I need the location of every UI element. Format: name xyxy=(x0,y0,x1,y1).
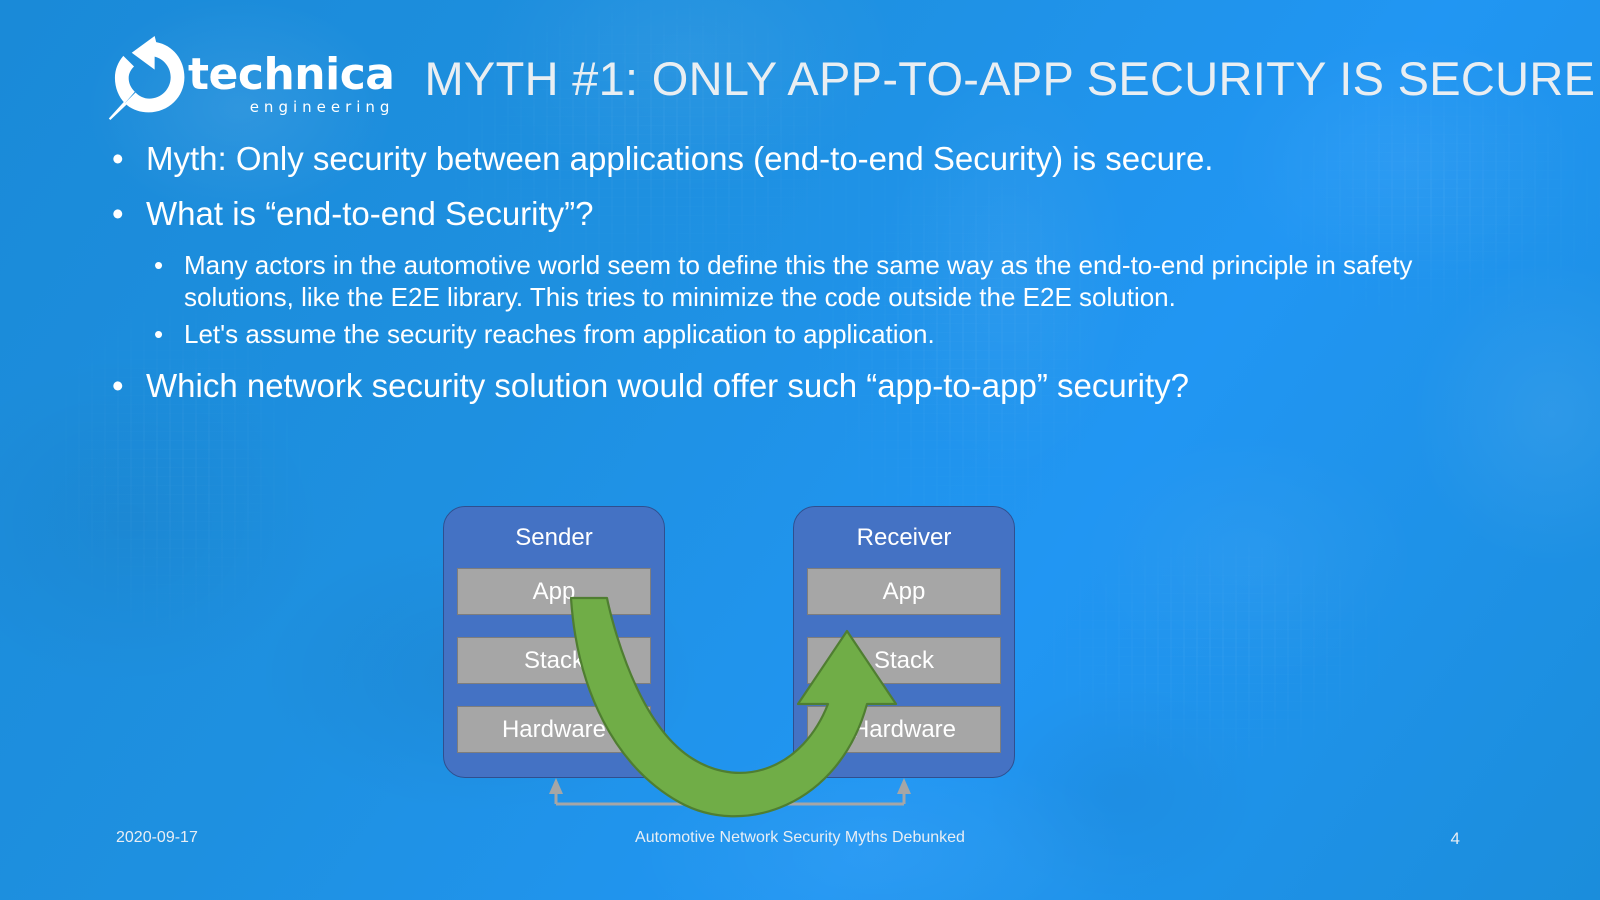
footer-deck-title: Automotive Network Security Myths Debunk… xyxy=(0,829,1600,847)
bullet-glyph-icon: • xyxy=(154,319,184,351)
presentation-slide: technica engineering MYTH #1: ONLY APP-T… xyxy=(0,0,1600,900)
bullet-level1-solution: • Which network security solution would … xyxy=(112,367,1512,406)
node-layer-sender-stack: Stack xyxy=(457,637,651,684)
slide-body: • Myth: Only security between applicatio… xyxy=(112,140,1512,422)
bullet-glyph-icon: • xyxy=(112,367,146,406)
brand-tagline: engineering xyxy=(188,98,394,116)
diagram-node-sender: Sender App Stack Hardware xyxy=(443,506,665,778)
bullet-level2-assumption-text: Let's assume the security reaches from a… xyxy=(184,319,935,351)
node-layer-sender-hardware: Hardware xyxy=(457,706,651,753)
page-title: MYTH #1: ONLY APP-TO-APP SECURITY IS SEC… xyxy=(424,51,1595,106)
node-layer-receiver-stack: Stack xyxy=(807,637,1001,684)
bullet-level1-question: • What is “end-to-end Security”? xyxy=(112,195,1512,234)
connector-arrowhead-left xyxy=(549,778,563,794)
bullet-level1-question-text: What is “end-to-end Security”? xyxy=(146,195,594,234)
bullet-level1-solution-text: Which network security solution would of… xyxy=(146,367,1189,406)
slide-header: technica engineering MYTH #1: ONLY APP-T… xyxy=(108,36,1595,120)
diagram-node-receiver: Receiver App Stack Hardware xyxy=(793,506,1015,778)
node-title-sender: Sender xyxy=(444,524,664,552)
app-to-app-diagram: Sender App Stack Hardware Receiver App S… xyxy=(443,506,1023,816)
bullet-glyph-icon: • xyxy=(112,195,146,234)
node-layer-receiver-hardware: Hardware xyxy=(807,706,1001,753)
bullet-glyph-icon: • xyxy=(112,140,146,179)
bullet-level2-definition: • Many actors in the automotive world se… xyxy=(154,250,1512,313)
node-title-receiver: Receiver xyxy=(794,524,1014,552)
bullet-level1-myth-text: Myth: Only security between applications… xyxy=(146,140,1213,179)
bullet-level2-assumption: • Let's assume the security reaches from… xyxy=(154,319,1512,351)
footer-page-number: 4 xyxy=(1451,829,1460,849)
node-layer-receiver-app: App xyxy=(807,568,1001,615)
bullet-level2-definition-text: Many actors in the automotive world seem… xyxy=(184,250,1454,313)
node-layer-sender-app: App xyxy=(457,568,651,615)
bullet-level1-myth: • Myth: Only security between applicatio… xyxy=(112,140,1512,179)
bullet-glyph-icon: • xyxy=(154,250,184,313)
brand-logo: technica engineering xyxy=(108,36,394,120)
connector-arrowhead-right xyxy=(897,778,911,794)
brand-name: technica xyxy=(188,54,394,96)
technica-circular-arrow-logo-icon xyxy=(108,36,186,120)
